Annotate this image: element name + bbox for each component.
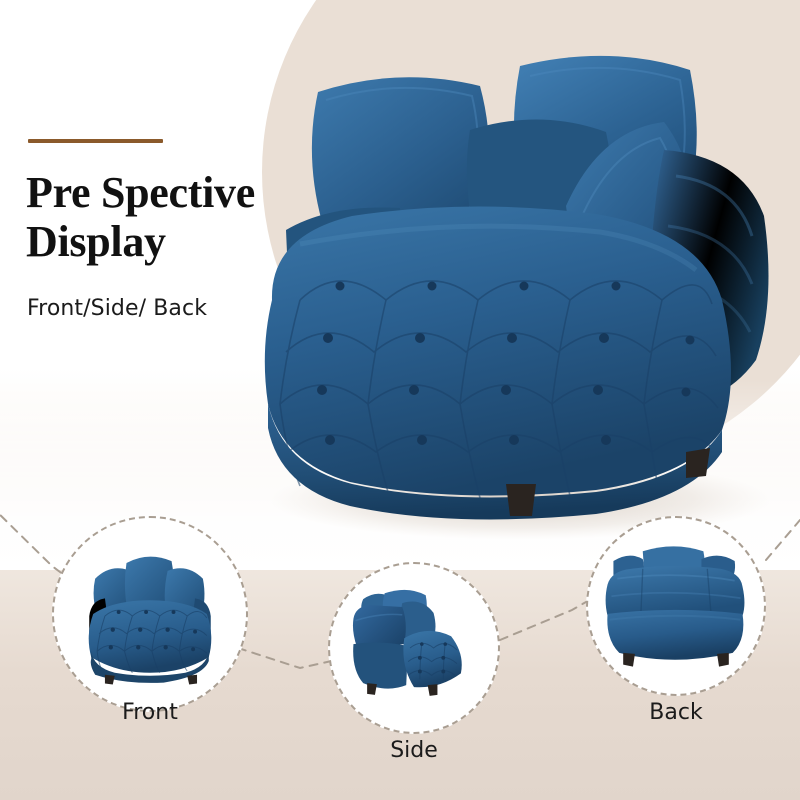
page-subtitle: Front/Side/ Back [27, 296, 207, 321]
thumbnail-front-illustration [54, 518, 246, 710]
page-title-line2: Display [26, 217, 356, 266]
page-title: Pre Spective Display [26, 168, 356, 267]
accent-bar [28, 139, 163, 143]
product-perspective-banner: Pre Spective Display Front/Side/ Back [0, 0, 800, 800]
page-title-line1: Pre Spective [26, 168, 255, 217]
thumbnail-label-side: Side [328, 738, 500, 763]
thumbnail-front[interactable] [52, 516, 248, 712]
thumbnail-side-illustration [330, 564, 498, 732]
thumbnail-label-back: Back [586, 700, 766, 725]
thumbnail-label-front: Front [52, 700, 248, 725]
thumbnail-back[interactable] [586, 516, 766, 696]
thumbnail-back-illustration [588, 518, 764, 694]
thumbnail-side[interactable] [328, 562, 500, 734]
